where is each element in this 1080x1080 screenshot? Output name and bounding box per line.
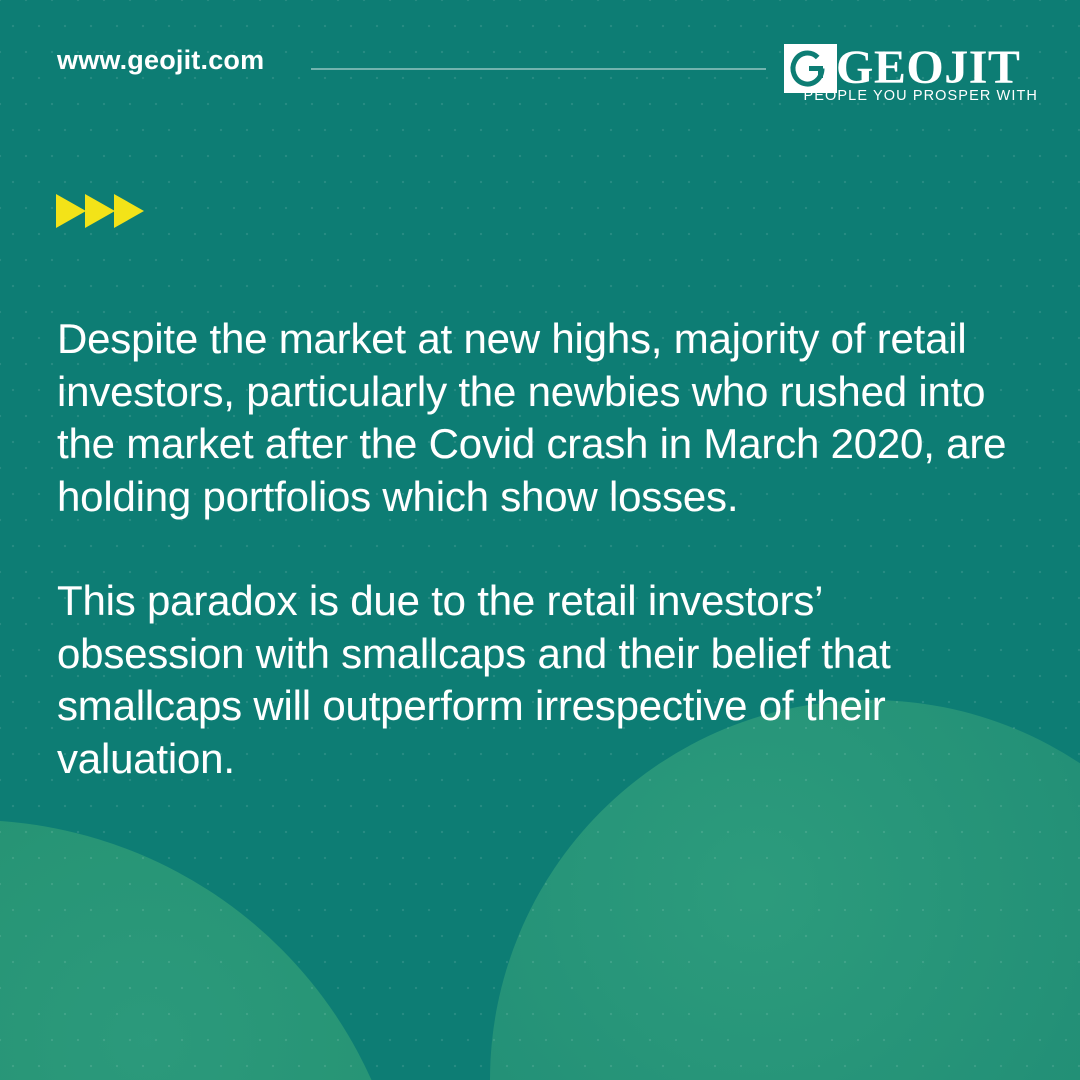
decorative-circle-left <box>0 820 410 1080</box>
play-arrow-icon <box>85 194 115 228</box>
play-arrow-icon <box>56 194 86 228</box>
geojit-logo[interactable]: GEOJIT PEOPLE YOU PROSPER WITH <box>784 38 1038 108</box>
paragraph: This paradox is due to the retail invest… <box>57 575 1017 785</box>
play-arrow-icon <box>114 194 144 228</box>
triple-arrow-accent <box>56 194 143 228</box>
paragraph: Despite the market at new highs, majorit… <box>57 313 1017 523</box>
body-copy: Despite the market at new highs, majorit… <box>57 313 1017 785</box>
header: www.geojit.com GEOJIT PEOPLE YOU PROSPER… <box>0 40 1080 112</box>
geojit-g-mark-icon <box>784 44 837 93</box>
social-post-canvas: www.geojit.com GEOJIT PEOPLE YOU PROSPER… <box>0 0 1080 1080</box>
geojit-tagline: PEOPLE YOU PROSPER WITH <box>803 88 1038 104</box>
site-url-label[interactable]: www.geojit.com <box>57 40 264 80</box>
header-divider <box>311 68 766 70</box>
